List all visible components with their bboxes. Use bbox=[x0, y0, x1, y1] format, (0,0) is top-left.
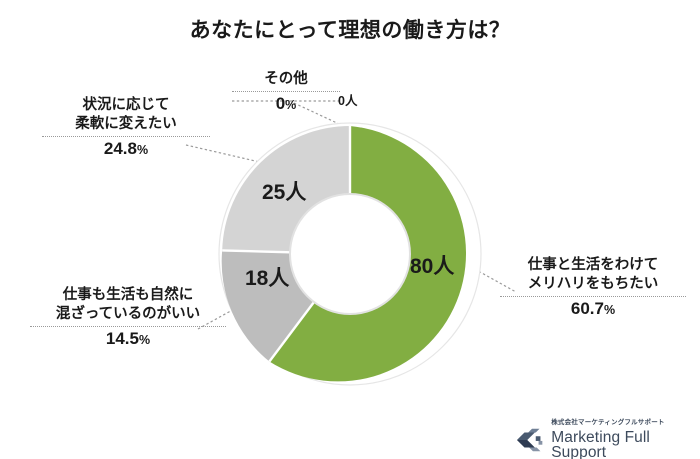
callout-mixed-percent: 14.5% bbox=[30, 328, 226, 349]
slice-value-split: 80人 bbox=[410, 250, 454, 280]
callout-flexible-percent-number: 24.8 bbox=[104, 139, 137, 158]
callout-split-rule bbox=[500, 296, 686, 297]
callout-mixed-label-line1: 仕事も生活も自然に bbox=[30, 286, 226, 305]
callout-split-percent-number: 60.7 bbox=[571, 299, 604, 318]
callout-flexible-percent: 24.8% bbox=[42, 138, 210, 159]
callout-split-label-line2: メリハリをもちたい bbox=[500, 275, 686, 294]
callout-flexible-percent-unit: % bbox=[137, 143, 148, 157]
callout-other-percent-unit: % bbox=[285, 98, 296, 112]
callout-other-percent-number: 0 bbox=[276, 94, 285, 113]
slice-value-mixed: 18人 bbox=[245, 262, 289, 292]
footer-logo: 株式会社マーケティングフルサポート Marketing Full Support bbox=[516, 420, 700, 459]
callout-flexible-label-line1: 状況に応じて bbox=[42, 96, 210, 115]
slice-value-flexible: 25人 bbox=[262, 176, 306, 206]
chart-canvas: あなたにとって理想の働き方は？ bbox=[0, 0, 700, 459]
logo-company-jp: 株式会社マーケティングフルサポート bbox=[551, 420, 700, 427]
page-title: あなたにとって理想の働き方は？ bbox=[0, 14, 700, 44]
callout-mixed-percent-number: 14.5 bbox=[106, 329, 139, 348]
callout-split-percent: 60.7% bbox=[500, 298, 686, 319]
callout-flexible-label-line2: 柔軟に変えたい bbox=[42, 115, 210, 134]
callout-split-percent-unit: % bbox=[604, 303, 615, 317]
marketing-full-support-logo-icon bbox=[516, 427, 544, 453]
callout-other: その他 0% bbox=[232, 70, 340, 114]
callout-split: 仕事と生活をわけて メリハリをもちたい 60.7% bbox=[500, 256, 686, 320]
slice-value-other: 0人 bbox=[338, 90, 357, 109]
callout-other-percent: 0% bbox=[232, 93, 340, 114]
callout-other-label: その他 bbox=[232, 70, 340, 89]
callout-other-rule bbox=[232, 91, 340, 92]
logo-company-en: Marketing Full Support bbox=[551, 430, 700, 459]
callout-mixed: 仕事も生活も自然に 混ざっているのがいい 14.5% bbox=[30, 286, 226, 350]
callout-mixed-rule bbox=[30, 326, 226, 327]
callout-mixed-percent-unit: % bbox=[139, 333, 150, 347]
callout-flexible-rule bbox=[42, 136, 210, 137]
callout-mixed-label-line2: 混ざっているのがいい bbox=[30, 305, 226, 324]
callout-split-label-line1: 仕事と生活をわけて bbox=[500, 256, 686, 275]
callout-flexible: 状況に応じて 柔軟に変えたい 24.8% bbox=[42, 96, 210, 160]
